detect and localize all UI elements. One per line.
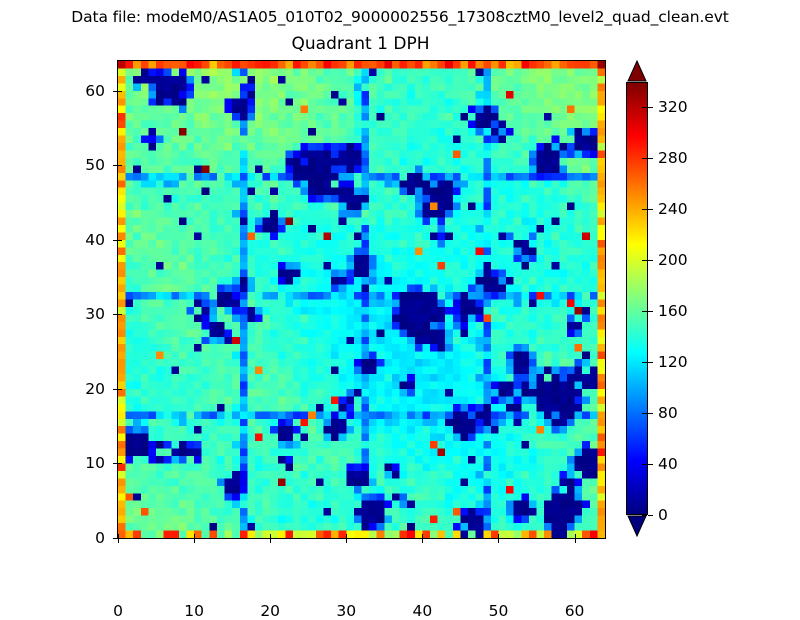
- x-tick-mark-inner: [575, 534, 576, 538]
- heatmap-axes[interactable]: 0102030405060 0102030405060: [117, 60, 606, 539]
- x-tick-mark: [498, 539, 499, 543]
- colorbar-tick-label: 280: [658, 149, 688, 167]
- x-tick-mark: [118, 539, 119, 543]
- y-tick-label: 0: [45, 529, 105, 547]
- x-tick-label: 20: [240, 602, 300, 620]
- x-tick-mark: [575, 539, 576, 543]
- x-tick-mark-inner: [422, 534, 423, 538]
- y-tick-mark: [113, 463, 117, 464]
- colorbar-tick-mark: [648, 107, 653, 108]
- y-tick-mark: [113, 240, 117, 241]
- y-tick-mark-inner: [118, 240, 122, 241]
- detector-plane-histogram-image[interactable]: [118, 61, 605, 538]
- x-tick-label: 40: [392, 602, 452, 620]
- axes-title: Quadrant 1 DPH: [117, 33, 604, 55]
- colorbar-tick-mark-inner: [642, 515, 647, 516]
- colorbar-tick-mark: [648, 464, 653, 465]
- x-tick-mark: [270, 539, 271, 543]
- y-tick-mark-inner: [118, 463, 122, 464]
- x-tick-mark-inner: [194, 534, 195, 538]
- x-tick-mark-inner: [346, 534, 347, 538]
- x-tick-mark: [346, 539, 347, 543]
- x-tick-label: 60: [545, 602, 605, 620]
- y-tick-mark: [113, 538, 117, 539]
- y-tick-mark: [113, 165, 117, 166]
- y-tick-label: 60: [45, 82, 105, 100]
- colorbar-tick-label: 0: [658, 506, 668, 524]
- colorbar-gradient-fill: [627, 83, 647, 514]
- colorbar-tick-mark-inner: [642, 107, 647, 108]
- colorbar-tick-mark-inner: [642, 413, 647, 414]
- colorbar-tick-label: 200: [658, 251, 688, 269]
- colorbar-tick-mark: [648, 260, 653, 261]
- colorbar-tick-label: 240: [658, 200, 688, 218]
- x-tick-mark-inner: [270, 534, 271, 538]
- colorbar-tick-mark-inner: [642, 311, 647, 312]
- colorbar-tick-label: 80: [658, 404, 678, 422]
- colorbar-tick-mark: [648, 311, 653, 312]
- colorbar[interactable]: 04080120160200240280320: [626, 60, 648, 537]
- y-tick-label: 10: [45, 454, 105, 472]
- colorbar-tick-label: 120: [658, 353, 688, 371]
- colorbar-tick-mark-inner: [642, 158, 647, 159]
- y-tick-mark: [113, 314, 117, 315]
- colorbar-tick-mark: [648, 413, 653, 414]
- y-tick-mark-inner: [118, 314, 122, 315]
- y-tick-mark: [113, 389, 117, 390]
- colorbar-tick-mark-inner: [642, 260, 647, 261]
- colorbar-extend-max-arrow-icon: [626, 60, 648, 82]
- y-tick-mark-inner: [118, 165, 122, 166]
- y-tick-label: 20: [45, 380, 105, 398]
- colorbar-gradient[interactable]: [626, 82, 648, 515]
- x-tick-label: 50: [468, 602, 528, 620]
- colorbar-tick-label: 40: [658, 455, 678, 473]
- y-tick-label: 30: [45, 305, 105, 323]
- x-tick-label: 10: [164, 602, 224, 620]
- colorbar-tick-label: 160: [658, 302, 688, 320]
- figure-canvas: Data file: modeM0/AS1A05_010T02_90000025…: [0, 0, 800, 600]
- colorbar-tick-label: 320: [658, 98, 688, 116]
- y-tick-mark-inner: [118, 91, 122, 92]
- colorbar-tick-mark-inner: [642, 209, 647, 210]
- y-tick-mark: [113, 91, 117, 92]
- y-tick-label: 40: [45, 231, 105, 249]
- colorbar-tick-mark-inner: [642, 464, 647, 465]
- y-tick-label: 50: [45, 156, 105, 174]
- colorbar-tick-mark: [648, 362, 653, 363]
- x-tick-mark: [194, 539, 195, 543]
- x-tick-mark: [422, 539, 423, 543]
- y-tick-mark-inner: [118, 389, 122, 390]
- colorbar-tick-mark: [648, 209, 653, 210]
- colorbar-tick-mark: [648, 515, 653, 516]
- colorbar-extend-min-arrow-icon: [626, 515, 648, 537]
- colorbar-tick-mark-inner: [642, 362, 647, 363]
- x-tick-label: 30: [316, 602, 376, 620]
- x-tick-label: 0: [88, 602, 148, 620]
- y-tick-mark-inner: [118, 538, 122, 539]
- figure-suptitle: Data file: modeM0/AS1A05_010T02_90000025…: [0, 7, 800, 27]
- x-tick-mark-inner: [498, 534, 499, 538]
- colorbar-tick-mark: [648, 158, 653, 159]
